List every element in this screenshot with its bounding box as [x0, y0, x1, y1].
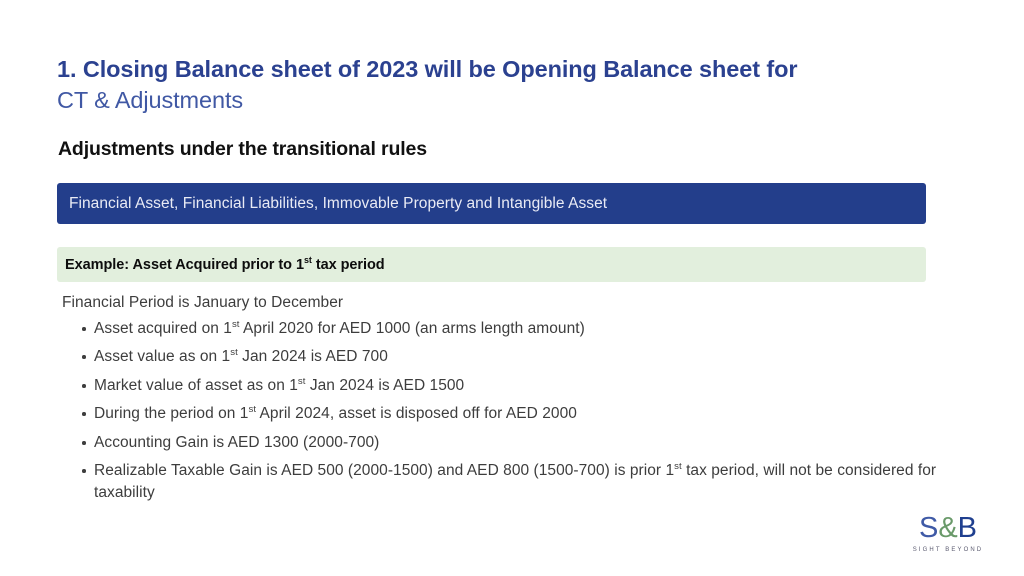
list-item-superscript: st — [674, 461, 682, 472]
example-label-suffix: tax period — [312, 257, 385, 273]
lead-line: Financial Period is January to December — [62, 293, 942, 314]
example-callout-box: Example: Asset Acquired prior to 1st tax… — [57, 247, 926, 282]
list-item: Accounting Gain is AED 1300 (2000-700) — [62, 432, 942, 454]
page-subtitle: CT & Adjustments — [57, 85, 937, 116]
list-item-prefix: Realizable Taxable Gain is AED 500 (2000… — [94, 462, 674, 479]
page-title: 1. Closing Balance sheet of 2023 will be… — [57, 54, 937, 85]
list-item-superscript: st — [232, 319, 240, 330]
list-item-prefix: During the period on 1 — [94, 405, 248, 422]
list-item: Market value of asset as on 1st Jan 2024… — [62, 375, 942, 397]
list-item-prefix: Asset value as on 1 — [94, 348, 230, 365]
list-item: Asset value as on 1st Jan 2024 is AED 70… — [62, 346, 942, 368]
company-logo: S&B SIGHT BEYOND — [908, 514, 988, 553]
list-item-prefix: Asset acquired on 1 — [94, 320, 232, 337]
list-item: Realizable Taxable Gain is AED 500 (2000… — [62, 460, 942, 504]
slide-title-block: 1. Closing Balance sheet of 2023 will be… — [57, 54, 937, 117]
list-item-prefix: Market value of asset as on 1 — [94, 377, 298, 394]
slide-canvas: 1. Closing Balance sheet of 2023 will be… — [0, 0, 1024, 576]
list-item-suffix: April 2024, asset is disposed off for AE… — [256, 405, 577, 422]
logo-letter-b: B — [958, 512, 977, 544]
example-label-superscript: st — [304, 255, 312, 265]
example-callout-label: Example: Asset Acquired prior to 1st tax… — [65, 257, 385, 273]
bullet-list: Asset acquired on 1st April 2020 for AED… — [62, 318, 942, 505]
example-label-prefix: Example: Asset Acquired prior to 1 — [65, 257, 304, 273]
body-content: Financial Period is January to December … — [62, 293, 942, 511]
category-banner-label: Financial Asset, Financial Liabilities, … — [69, 195, 607, 213]
list-item-suffix: April 2020 for AED 1000 (an arms length … — [240, 320, 585, 337]
section-heading: Adjustments under the transitional rules — [58, 138, 427, 161]
list-item: Asset acquired on 1st April 2020 for AED… — [62, 318, 942, 340]
list-item-suffix: Jan 2024 is AED 1500 — [305, 377, 464, 394]
logo-ampersand: & — [938, 512, 957, 544]
logo-wordmark: S&B — [908, 514, 988, 543]
list-item-prefix: Accounting Gain is AED 1300 (2000-700) — [94, 434, 379, 451]
list-item-superscript: st — [230, 347, 238, 358]
logo-letter-s: S — [919, 512, 938, 544]
list-item-superscript: st — [248, 404, 256, 415]
list-item: During the period on 1st April 2024, ass… — [62, 403, 942, 425]
logo-tagline: SIGHT BEYOND — [908, 547, 988, 553]
list-item-suffix: Jan 2024 is AED 700 — [238, 348, 388, 365]
category-banner: Financial Asset, Financial Liabilities, … — [57, 183, 926, 224]
